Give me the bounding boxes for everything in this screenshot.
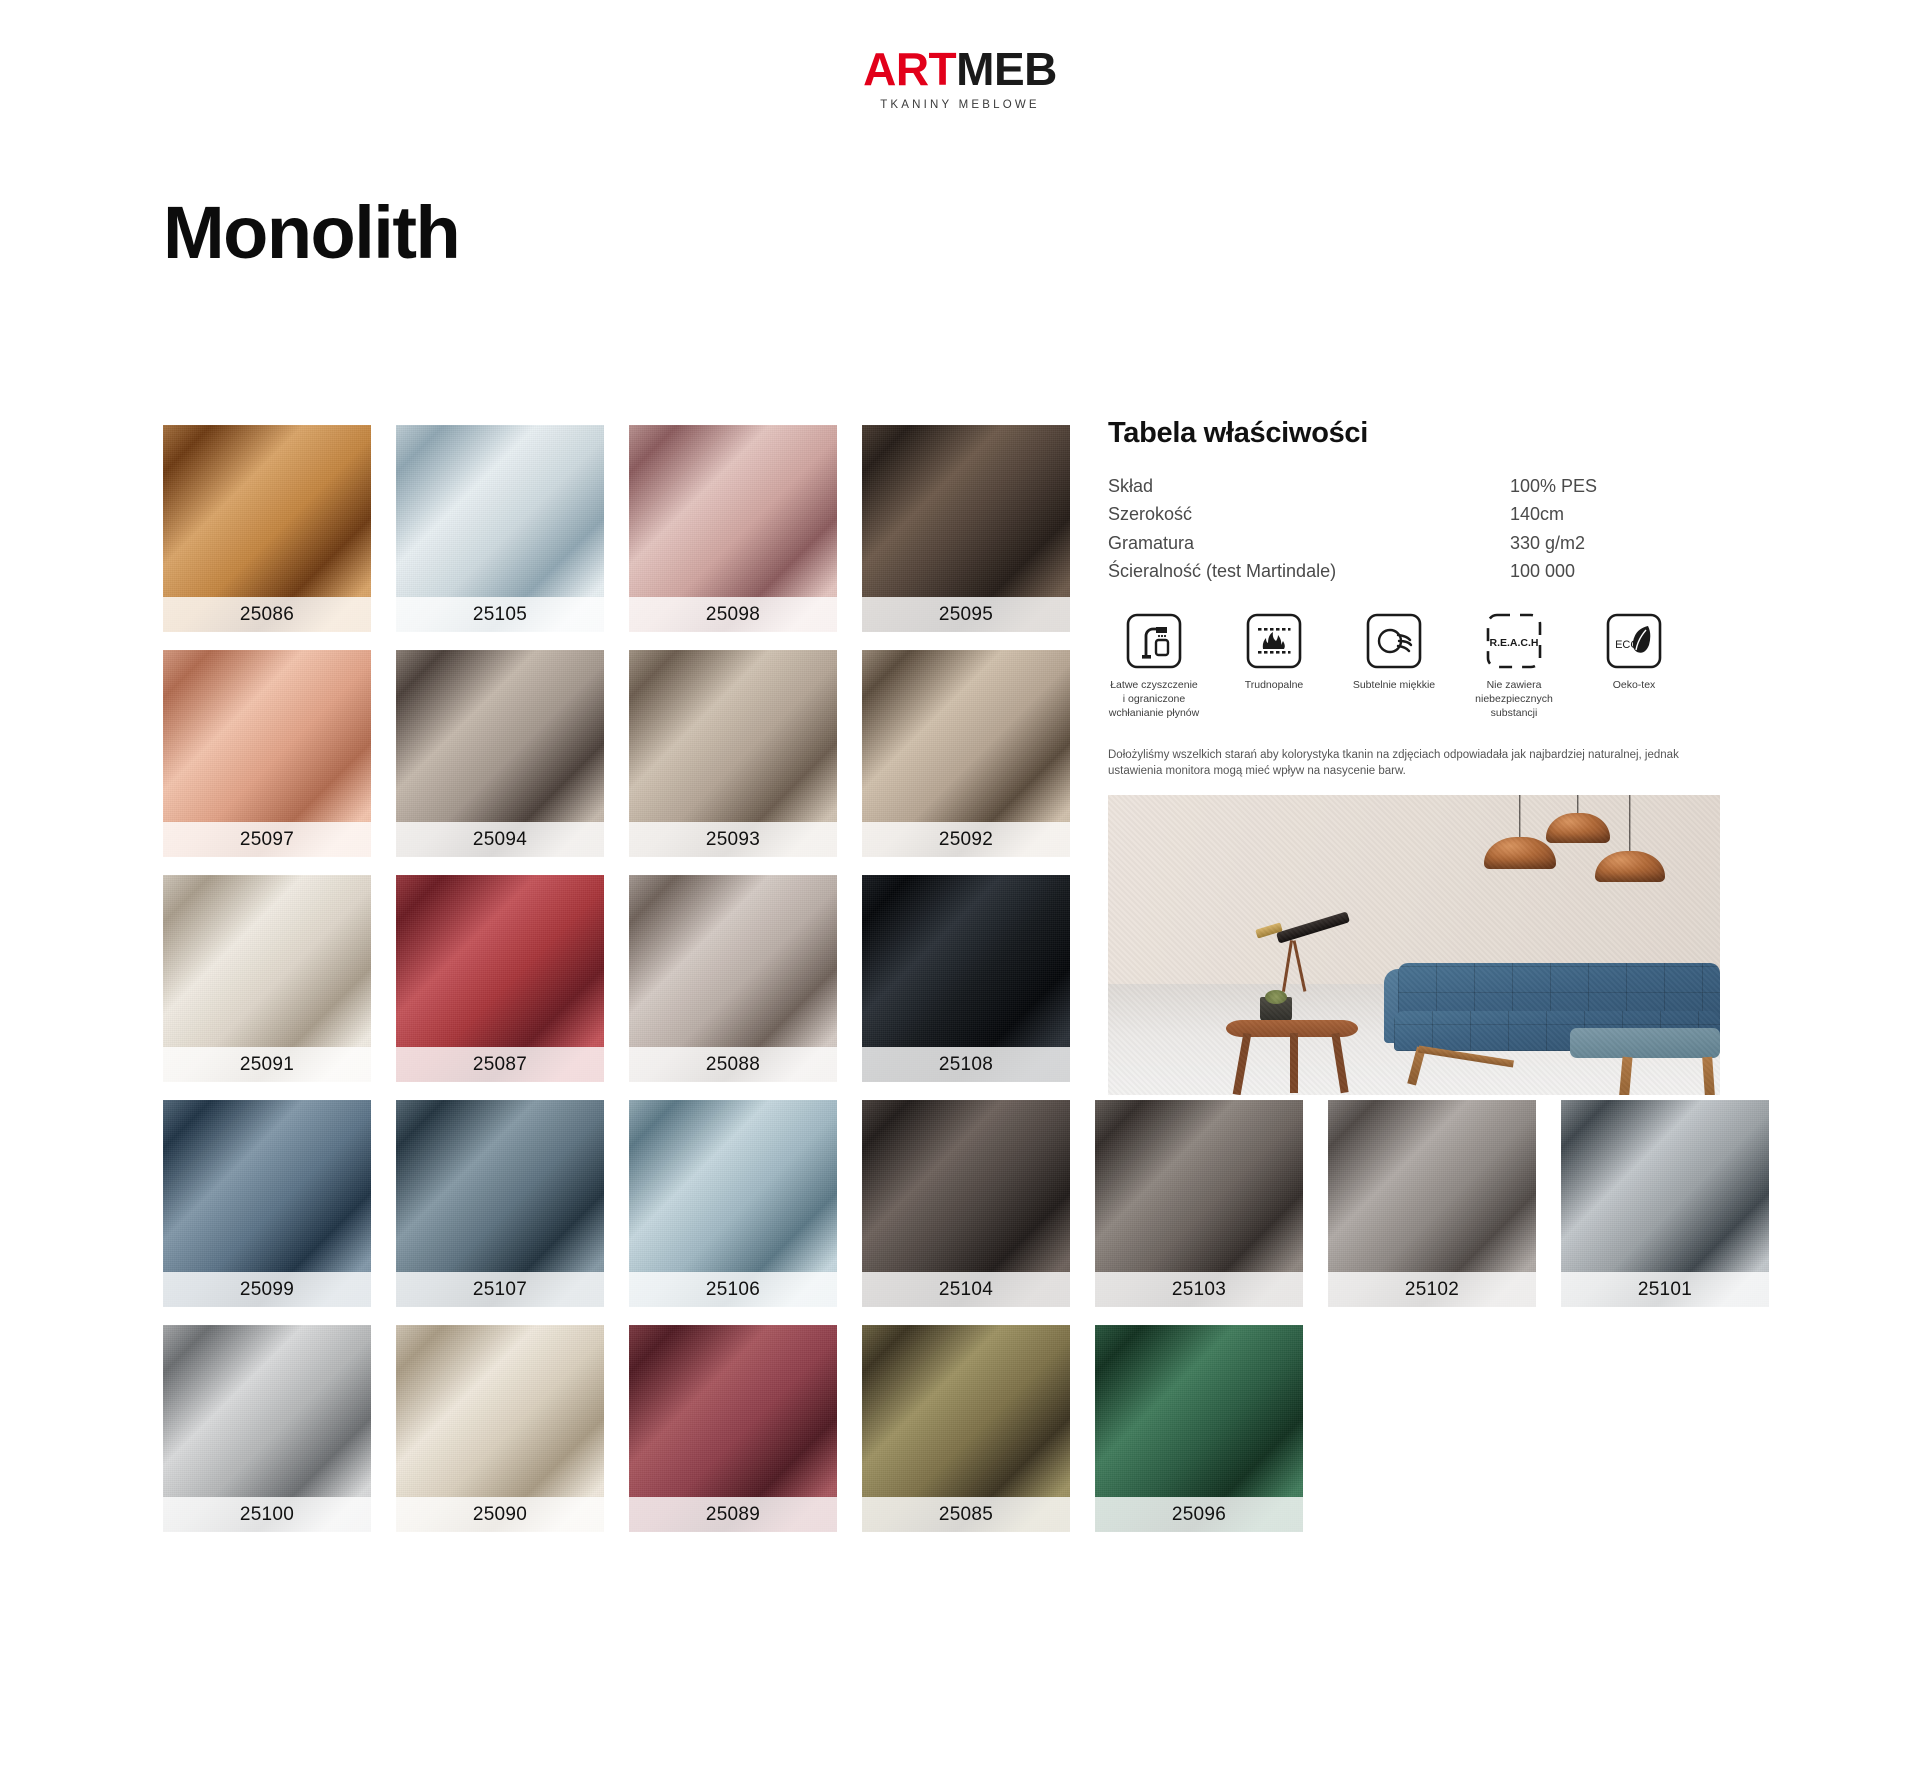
swatch-25085[interactable]: 25085 <box>862 1325 1070 1532</box>
swatch-code-label: 25093 <box>629 822 837 857</box>
swatch-25096[interactable]: 25096 <box>1095 1325 1303 1532</box>
swatch-code-label: 25088 <box>629 1047 837 1082</box>
feature-reach-icon: R.E.A.C.HNie zawiera niebezpiecznych sub… <box>1468 612 1560 721</box>
swatch-25101[interactable]: 25101 <box>1561 1100 1769 1307</box>
feature-caption: Trudnopalne <box>1228 679 1320 693</box>
feature-caption: Nie zawiera niebezpiecznych substancji <box>1468 679 1560 721</box>
side-table-leg-2 <box>1290 1033 1298 1093</box>
spec-row: Skład100% PES <box>1108 472 1720 501</box>
spec-label: Skład <box>1108 472 1510 501</box>
spec-value: 100% PES <box>1510 472 1720 501</box>
spec-row: Szerokość140cm <box>1108 501 1720 530</box>
swatch-code-label: 25086 <box>163 597 371 632</box>
bench-seat <box>1570 1028 1720 1058</box>
spec-row: Gramatura330 g/m2 <box>1108 529 1720 558</box>
properties-title: Tabela właściwości <box>1108 417 1720 450</box>
swatch-code-label: 25108 <box>862 1047 1070 1082</box>
spec-value: 140cm <box>1510 501 1720 530</box>
feature-caption: Subtelnie miękkie <box>1348 679 1440 693</box>
specifications-table: Skład100% PESSzerokość140cmGramatura330 … <box>1108 472 1720 586</box>
cactus-plant <box>1265 990 1287 1004</box>
swatch-25094[interactable]: 25094 <box>396 650 604 857</box>
page-title: Monolith <box>163 196 459 270</box>
swatch-25107[interactable]: 25107 <box>396 1100 604 1307</box>
swatch-25100[interactable]: 25100 <box>163 1325 371 1532</box>
spec-value: 100 000 <box>1510 558 1720 587</box>
logo-art-text: ART <box>863 46 956 92</box>
spec-row: Ścieralność (test Martindale)100 000 <box>1108 558 1720 587</box>
swatch-code-label: 25106 <box>629 1272 837 1307</box>
swatch-25093[interactable]: 25093 <box>629 650 837 857</box>
svg-text:R.E.A.C.H: R.E.A.C.H <box>1489 637 1538 649</box>
feature-flame-retardant-icon: Trudnopalne <box>1228 612 1320 721</box>
swatch-25095[interactable]: 25095 <box>862 425 1070 632</box>
feature-oeko-tex-icon: ECOOeko-tex <box>1588 612 1680 721</box>
swatch-code-label: 25101 <box>1561 1272 1769 1307</box>
swatch-25102[interactable]: 25102 <box>1328 1100 1536 1307</box>
swatch-code-label: 25103 <box>1095 1272 1303 1307</box>
swatch-code-label: 25107 <box>396 1272 604 1307</box>
swatch-code-label: 25087 <box>396 1047 604 1082</box>
spec-label: Gramatura <box>1108 529 1510 558</box>
swatch-code-label: 25095 <box>862 597 1070 632</box>
spec-value: 330 g/m2 <box>1510 529 1720 558</box>
spec-label: Ścieralność (test Martindale) <box>1108 558 1510 587</box>
reach-icon: R.E.A.C.H <box>1485 612 1543 670</box>
swatch-code-label: 25097 <box>163 822 371 857</box>
swatch-code-label: 25085 <box>862 1497 1070 1532</box>
disclaimer-line-1: Dołożyliśmy wszelkich starań aby kolorys… <box>1108 747 1708 780</box>
swatch-code-label: 25104 <box>862 1272 1070 1307</box>
swatch-row: 25099251072510625104251032510225101 <box>163 1100 1803 1307</box>
swatch-row: 2510025090250892508525096 <box>163 1325 1803 1532</box>
swatch-code-label: 25094 <box>396 822 604 857</box>
swatch-code-label: 25100 <box>163 1497 371 1532</box>
feature-soft-touch-icon: Subtelnie miękkie <box>1348 612 1440 721</box>
swatch-code-label: 25089 <box>629 1497 837 1532</box>
swatch-code-label: 25090 <box>396 1497 604 1532</box>
swatch-25097[interactable]: 25097 <box>163 650 371 857</box>
swatch-code-label: 25096 <box>1095 1497 1303 1532</box>
soft-touch-icon <box>1365 612 1423 670</box>
logo-tagline: TKANINY MEBLOWE <box>0 99 1920 111</box>
feature-caption: Łatwe czyszczenie i ograniczone wchłania… <box>1108 679 1200 721</box>
swatch-code-label: 25102 <box>1328 1272 1536 1307</box>
swatch-code-label: 25098 <box>629 597 837 632</box>
swatch-25105[interactable]: 25105 <box>396 425 604 632</box>
easy-clean-icon <box>1125 612 1183 670</box>
swatch-25086[interactable]: 25086 <box>163 425 371 632</box>
swatch-25087[interactable]: 25087 <box>396 875 604 1082</box>
swatch-25090[interactable]: 25090 <box>396 1325 604 1532</box>
flame-retardant-icon <box>1245 612 1303 670</box>
properties-panel: Tabela właściwości Skład100% PESSzerokoś… <box>1108 417 1720 814</box>
logo-wordmark: ARTMEB <box>0 46 1920 92</box>
swatch-25088[interactable]: 25088 <box>629 875 837 1082</box>
swatch-25089[interactable]: 25089 <box>629 1325 837 1532</box>
brand-logo: ARTMEB TKANINY MEBLOWE <box>0 46 1920 111</box>
swatch-25091[interactable]: 25091 <box>163 875 371 1082</box>
spec-label: Szerokość <box>1108 501 1510 530</box>
swatch-25106[interactable]: 25106 <box>629 1100 837 1307</box>
swatch-25092[interactable]: 25092 <box>862 650 1070 857</box>
interior-room-photo <box>1108 795 1720 1095</box>
feature-caption: Oeko-tex <box>1588 679 1680 693</box>
swatch-25099[interactable]: 25099 <box>163 1100 371 1307</box>
swatch-code-label: 25092 <box>862 822 1070 857</box>
swatch-code-label: 25105 <box>396 597 604 632</box>
oeko-tex-icon: ECO <box>1605 612 1663 670</box>
swatch-25103[interactable]: 25103 <box>1095 1100 1303 1307</box>
swatch-25104[interactable]: 25104 <box>862 1100 1070 1307</box>
swatch-code-label: 25091 <box>163 1047 371 1082</box>
pendant-lamp-right <box>1595 795 1665 890</box>
feature-easy-clean-icon: Łatwe czyszczenie i ograniczone wchłania… <box>1108 612 1200 721</box>
swatch-25108[interactable]: 25108 <box>862 875 1070 1082</box>
fabric-catalog-page: ARTMEB TKANINY MEBLOWE Monolith 25086251… <box>0 0 1920 1768</box>
feature-icons-row: Łatwe czyszczenie i ograniczone wchłania… <box>1108 612 1720 721</box>
logo-meb-text: MEB <box>956 46 1057 92</box>
swatch-25098[interactable]: 25098 <box>629 425 837 632</box>
swatch-code-label: 25099 <box>163 1272 371 1307</box>
